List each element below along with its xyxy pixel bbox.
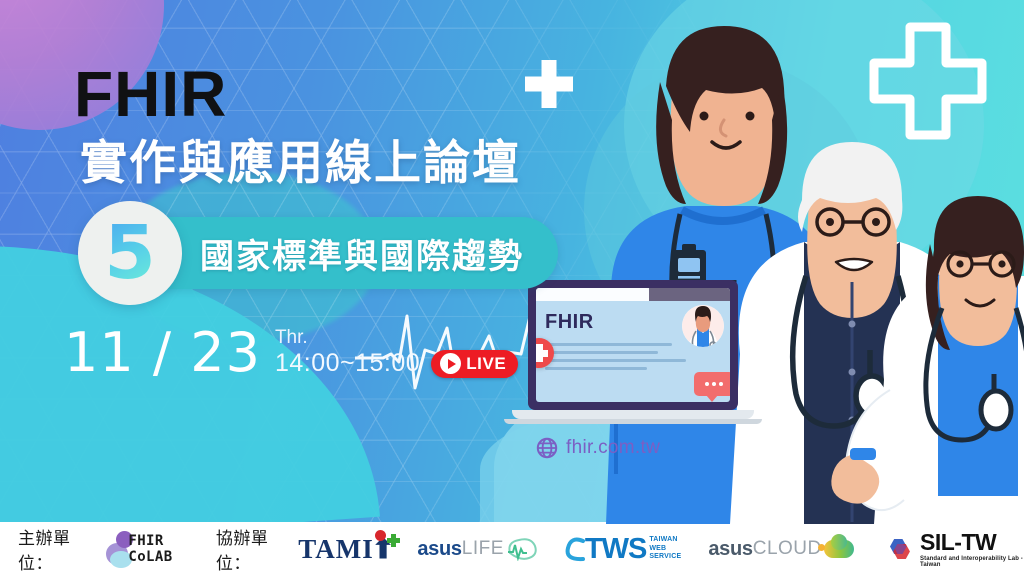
episode-number: 5: [104, 216, 156, 290]
website-url: fhir.com.tw: [566, 437, 660, 459]
logo-tami-text: TAMI: [298, 534, 374, 565]
page-title: FHIR: [74, 62, 521, 126]
logo-fhir-colab[interactable]: FHIR CoLAB: [100, 529, 198, 569]
tws-line-3: SERVICE: [649, 553, 681, 562]
logo-asus-cloud[interactable]: asusCLOUD: [708, 538, 853, 561]
laptop-base: [512, 410, 754, 419]
page-subtitle: 實作與應用線上論壇: [80, 138, 521, 190]
fhir-webinar-banner: FHIR 實作與應用線上論壇 5 國家標準與國際趨勢 11 / 23 Thr. …: [0, 0, 1024, 576]
sponsor-footer: 主辦單位： FHIR CoLAB 協辦單位： TAMI ⬆ asusLIFE T…: [0, 522, 1024, 576]
screen-text-lines: [545, 343, 721, 370]
episode-number-badge: 5: [78, 201, 182, 305]
live-badge[interactable]: LIVE: [431, 350, 518, 378]
laptop-lid: FHIR: [528, 280, 738, 410]
laptop-foot: [504, 419, 762, 424]
event-date: 11 / 23: [64, 326, 261, 380]
avatar: [682, 305, 724, 347]
coorganizer-label: 協辦單位：: [216, 524, 289, 574]
brain-wave-icon: [506, 537, 538, 561]
asus-life-bold: asus: [417, 538, 461, 561]
logo-asus-life[interactable]: asusLIFE: [417, 537, 538, 561]
sil-tw-tagline: Standard and Interoperability Lab - Taiw…: [920, 556, 1024, 568]
play-icon: [440, 353, 461, 374]
topic-text: 國家標準與國際趨勢: [200, 229, 524, 278]
tws-c-icon: [565, 534, 585, 564]
logo-fhir-colab-text: FHIR CoLAB: [128, 533, 198, 565]
sil-tw-text: SIL-TW: [920, 531, 1024, 554]
chat-bubble-icon: [694, 372, 730, 396]
tws-line-1: TAIWAN: [649, 536, 681, 545]
tws-text: TWS: [585, 533, 646, 566]
headline-block: FHIR 實作與應用線上論壇: [74, 62, 521, 190]
asus-life-light: LIFE: [462, 538, 504, 560]
asus-cloud-light: CLOUD: [753, 538, 822, 560]
tws-line-2: WEB: [649, 545, 681, 554]
event-time-range: 14:00~15:00: [275, 349, 420, 378]
topic-block: 5 國家標準與國際趨勢: [78, 201, 558, 305]
organizer-label: 主辦單位：: [18, 524, 91, 574]
logo-tami[interactable]: TAMI ⬆: [298, 534, 394, 565]
tami-dot-icon: [375, 530, 386, 541]
cloud-icon: [824, 540, 854, 558]
asus-cloud-bold: asus: [708, 538, 752, 561]
event-day-of-week: Thr.: [275, 328, 518, 349]
logo-sil-tw[interactable]: SIL-TW Standard and Interoperability Lab…: [885, 531, 1024, 568]
website-row[interactable]: fhir.com.tw: [536, 437, 660, 459]
date-time-block: 11 / 23 Thr. 14:00~15:00 LIVE: [64, 326, 518, 380]
live-label: LIVE: [466, 354, 506, 374]
screen-content: FHIR: [536, 301, 730, 370]
browser-topbar: [649, 288, 730, 301]
sil-hexagon-icon: [885, 533, 913, 565]
tami-plus-icon: [387, 534, 400, 547]
logo-tws[interactable]: TWS TAIWAN WEB SERVICE: [565, 533, 681, 566]
laptop-screen: FHIR: [536, 288, 730, 402]
globe-icon: [536, 437, 558, 459]
laptop-illustration: FHIR: [528, 280, 738, 424]
